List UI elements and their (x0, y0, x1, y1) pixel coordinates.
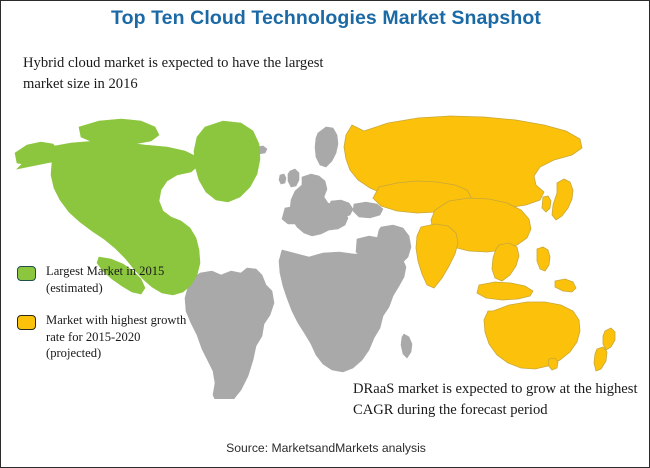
southeast-asia (492, 243, 519, 281)
legend-label-largest-market: Largest Market in 2015 (estimated) (46, 263, 192, 296)
callout-hybrid-cloud: Hybrid cloud market is expected to have … (23, 53, 353, 94)
legend-label-highest-growth: Market with highest growth rate for 2015… (46, 312, 192, 362)
philippines (537, 247, 550, 271)
britain (288, 169, 299, 187)
madagascar (401, 334, 412, 358)
callout-draas: DRaaS market is expected to grow at the … (353, 379, 643, 420)
green-swatch-icon (17, 266, 36, 281)
australia (484, 302, 580, 369)
tasmania (548, 358, 558, 370)
india (416, 224, 458, 288)
source-note: Source: MarketsandMarkets analysis (1, 441, 650, 455)
map-legend: Largest Market in 2015 (estimated) Marke… (17, 263, 192, 378)
canada-arctic (79, 119, 159, 145)
new-zealand-south (594, 347, 607, 371)
infographic-frame: Top Ten Cloud Technologies Market Snapsh… (0, 0, 650, 468)
ireland (279, 174, 286, 184)
turkey (353, 202, 383, 218)
new-zealand (603, 328, 615, 350)
orange-swatch-icon (17, 315, 36, 330)
greenland (194, 121, 260, 202)
indonesia (477, 282, 533, 300)
africa (279, 250, 406, 372)
legend-item-highest-growth[interactable]: Market with highest growth rate for 2015… (17, 312, 192, 362)
korea (542, 196, 551, 212)
scandinavia (315, 127, 338, 167)
page-title: Top Ten Cloud Technologies Market Snapsh… (1, 7, 650, 30)
papua-new-guinea (555, 279, 576, 292)
legend-item-largest-market[interactable]: Largest Market in 2015 (estimated) (17, 263, 192, 296)
japan (552, 179, 573, 220)
